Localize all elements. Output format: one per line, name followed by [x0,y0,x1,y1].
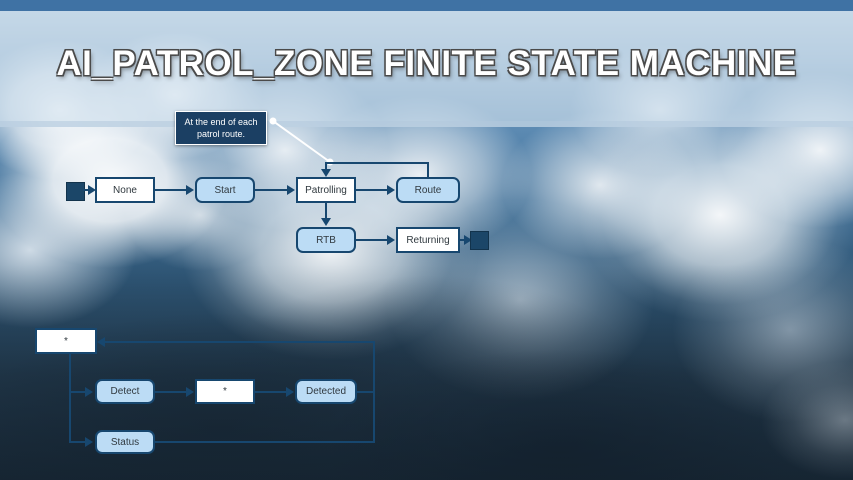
node-wildcard-top-label: * [64,336,68,347]
arrowhead-spine-to-detect [85,387,93,397]
connector-detect-to-wildcard [155,391,188,393]
node-detected-label: Detected [306,386,346,397]
node-detect[interactable]: Detect [95,379,155,404]
arrowhead-wildcard-to-detected [286,387,294,397]
arrowhead-rail-to-wildcard-top [97,337,105,347]
node-detected[interactable]: Detected [295,379,357,404]
arrowhead-spine-to-status [85,437,93,447]
slide-canvas: AI_PATROL_ZONE FINITE STATE MACHINE At t… [0,0,853,480]
arrowhead-detect-to-wildcard [186,387,194,397]
node-status[interactable]: Status [95,430,155,454]
connector-status-to-rail [155,441,375,443]
node-status-label: Status [111,437,139,448]
node-wildcard-top[interactable]: * [35,328,97,354]
connector-rail-across-top [104,341,375,343]
connector-wildcard-spine [69,354,71,442]
connector-wildcard-to-detected [255,391,288,393]
connector-rail-down [373,391,375,442]
connector-rail-up [373,341,375,392]
sub-flow-diagram: * Detect * Detected S [0,0,853,480]
node-wildcard-mid[interactable]: * [195,379,255,404]
node-detect-label: Detect [111,386,140,397]
node-wildcard-mid-label: * [223,386,227,397]
